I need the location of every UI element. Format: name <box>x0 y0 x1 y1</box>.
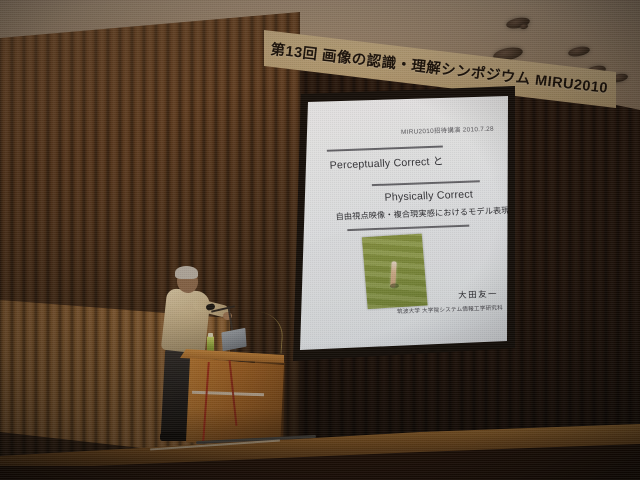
slide-title-line-2: Physically Correct <box>384 188 473 203</box>
lecture-hall-photo: 第13回 画像の認識・理解シンポジウム MIRU2010 MIRU2010招待講… <box>0 0 640 480</box>
slide-header-text: MIRU2010招待講演 2010.7.28 <box>401 124 494 136</box>
presenter-shoe <box>160 432 188 441</box>
presenter-jacket <box>161 288 211 354</box>
slide-subtitle: 自由視点映像・複合現実感におけるモデル表現 <box>335 204 508 222</box>
slide-divider-top <box>327 146 443 152</box>
slide-title-line-1: Perceptually Correct と <box>329 154 444 173</box>
slide-photo-soccer-field <box>362 234 428 310</box>
slide-divider-bottom <box>347 225 469 231</box>
slide-speaker-name: 大田友一 <box>458 288 499 301</box>
presenter-hair <box>175 266 198 279</box>
projection-screen: MIRU2010招待講演 2010.7.28 Perceptually Corr… <box>300 95 508 350</box>
presentation-slide: MIRU2010招待講演 2010.7.28 Perceptually Corr… <box>300 95 508 350</box>
drink-bottle-cap <box>208 333 213 337</box>
slide-photo-player-shadow <box>390 283 399 289</box>
slide-divider-middle <box>372 180 480 186</box>
